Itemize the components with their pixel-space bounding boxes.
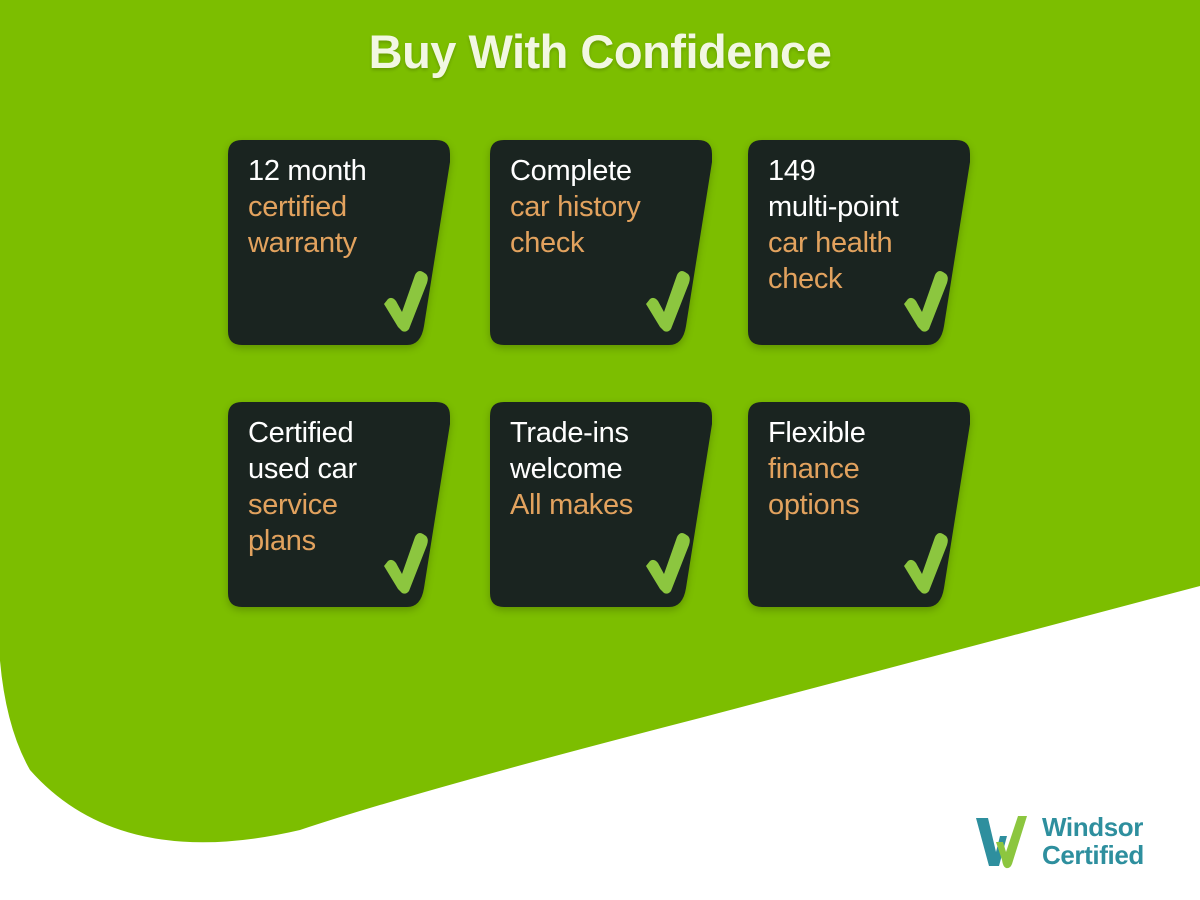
logo-wordmark: Windsor Certified bbox=[1042, 813, 1144, 869]
card-primary-line: 12 month bbox=[248, 154, 434, 190]
check-icon bbox=[644, 533, 690, 595]
card-text-block: 12 month certified warranty bbox=[248, 154, 434, 262]
windsor-w-icon bbox=[972, 812, 1032, 870]
card-text-block: Flexible finance options bbox=[768, 416, 954, 524]
check-icon bbox=[382, 271, 428, 333]
check-icon bbox=[902, 533, 948, 595]
card-accent-line: finance bbox=[768, 452, 954, 488]
check-icon bbox=[902, 271, 948, 333]
card-primary-line: welcome bbox=[510, 452, 696, 488]
features-grid: 12 month certified warranty Complete car… bbox=[228, 140, 988, 610]
feature-card-service-plans[interactable]: Certified used car service plans bbox=[228, 402, 450, 607]
card-primary-line: Certified bbox=[248, 416, 434, 452]
feature-card-car-history-check[interactable]: Complete car history check bbox=[490, 140, 712, 345]
card-accent-line: check bbox=[510, 226, 696, 262]
logo-line-1: Windsor bbox=[1042, 812, 1143, 842]
card-text-block: Complete car history check bbox=[510, 154, 696, 262]
feature-card-certified-warranty[interactable]: 12 month certified warranty bbox=[228, 140, 450, 345]
windsor-certified-logo[interactable]: Windsor Certified bbox=[972, 812, 1144, 870]
card-accent-line: car history bbox=[510, 190, 696, 226]
logo-line-2: Certified bbox=[1042, 841, 1144, 869]
card-primary-line: 149 bbox=[768, 154, 954, 190]
feature-card-car-health-check[interactable]: 149 multi-point car health check bbox=[748, 140, 970, 345]
card-accent-line: options bbox=[768, 488, 954, 524]
card-accent-line: car health bbox=[768, 226, 954, 262]
card-accent-line: warranty bbox=[248, 226, 434, 262]
promo-banner: Buy With Confidence 12 month certified w… bbox=[0, 0, 1200, 900]
feature-card-trade-ins[interactable]: Trade-ins welcome All makes bbox=[490, 402, 712, 607]
card-primary-line: Trade-ins bbox=[510, 416, 696, 452]
feature-card-finance-options[interactable]: Flexible finance options bbox=[748, 402, 970, 607]
card-accent-line: certified bbox=[248, 190, 434, 226]
card-accent-line: service bbox=[248, 488, 434, 524]
card-accent-line: All makes bbox=[510, 488, 696, 524]
card-primary-line: Complete bbox=[510, 154, 696, 190]
card-primary-line: multi-point bbox=[768, 190, 954, 226]
check-icon bbox=[644, 271, 690, 333]
card-text-block: Trade-ins welcome All makes bbox=[510, 416, 696, 524]
check-icon bbox=[382, 533, 428, 595]
card-primary-line: used car bbox=[248, 452, 434, 488]
page-title: Buy With Confidence bbox=[0, 24, 1200, 79]
card-primary-line: Flexible bbox=[768, 416, 954, 452]
